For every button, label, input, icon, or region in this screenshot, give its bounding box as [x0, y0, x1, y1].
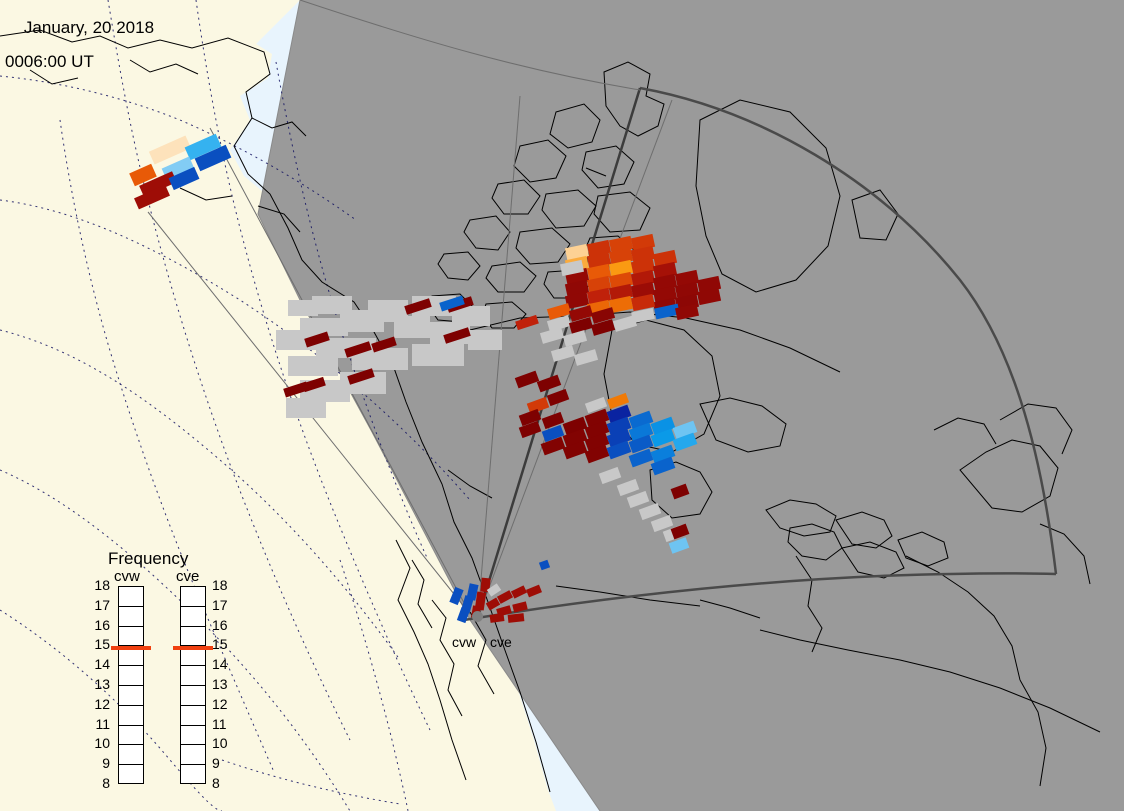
velocity-cell	[511, 585, 527, 598]
frequency-cell	[181, 686, 205, 706]
frequency-tick: 16	[212, 617, 238, 633]
frequency-cell	[119, 627, 143, 647]
frequency-tick: 11	[84, 716, 110, 732]
velocity-cell	[512, 601, 528, 612]
ground-scatter-cell	[617, 479, 640, 496]
frequency-tick: 11	[212, 716, 238, 732]
velocity-colorbar: Velocity (m/s) 5004003002001000-100-200-…	[980, 0, 1124, 340]
frequency-tick: 13	[84, 676, 110, 692]
ground-scatter-cell	[551, 345, 575, 362]
title-date: January, 20 2018	[24, 18, 154, 37]
frequency-tick: 9	[84, 755, 110, 771]
velocity-cell	[671, 484, 690, 500]
frequency-cell	[181, 666, 205, 686]
radar-site-label-cvw: cvw	[452, 634, 476, 650]
frequency-tick: 13	[212, 676, 238, 692]
frequency-cell	[119, 607, 143, 627]
ground-scatter-cell	[639, 503, 662, 520]
frequency-tick: 12	[84, 696, 110, 712]
frequency-cell	[119, 765, 143, 785]
frequency-bar-cve	[180, 586, 206, 784]
ground-scatter-cell	[394, 316, 430, 338]
ground-scatter-cell	[627, 491, 650, 508]
frequency-cell	[181, 706, 205, 726]
velocity-cell	[539, 560, 550, 571]
velocity-cell	[457, 607, 470, 623]
frequency-tick: 17	[84, 597, 110, 613]
radar-site-label-cve: cve	[490, 634, 512, 650]
velocity-cell	[537, 375, 561, 393]
frequency-cell	[181, 627, 205, 647]
frequency-cell	[181, 607, 205, 627]
frequency-column-header-cvw: cvw	[114, 568, 140, 585]
frequency-marker-cve	[173, 646, 213, 650]
frequency-cell	[119, 706, 143, 726]
velocity-cell	[449, 587, 463, 605]
ground-scatter-cell	[412, 344, 464, 366]
frequency-cell	[181, 726, 205, 746]
frequency-tick: 10	[84, 735, 110, 751]
frequency-tick: 14	[212, 656, 238, 672]
frequency-tick: 10	[212, 735, 238, 751]
timestamp-title: January, 20 2018 0006:00 UT	[5, 2, 154, 104]
title-time: 0006:00 UT	[5, 53, 154, 70]
frequency-tick: 15	[84, 636, 110, 652]
frequency-cell	[181, 765, 205, 785]
radar-site-marker	[472, 611, 483, 622]
frequency-tick: 14	[84, 656, 110, 672]
frequency-tick: 16	[84, 617, 110, 633]
velocity-cell	[508, 613, 525, 623]
frequency-cell	[119, 666, 143, 686]
frequency-marker-cvw	[111, 646, 151, 650]
frequency-cell	[119, 726, 143, 746]
ground-scatter-cell	[574, 349, 598, 366]
frequency-tick: 8	[84, 775, 110, 791]
frequency-cell	[181, 587, 205, 607]
ground-scatter-cell	[286, 398, 326, 418]
frequency-cell	[119, 745, 143, 765]
ground-scatter-cell	[613, 315, 637, 332]
frequency-cell	[181, 745, 205, 765]
frequency-tick: 18	[84, 577, 110, 593]
velocity-cell	[486, 598, 500, 611]
frequency-legend: cvw18171615141312111098cve18171615141312…	[88, 548, 248, 788]
velocity-cell	[526, 585, 542, 598]
frequency-tick: 9	[212, 755, 238, 771]
frequency-tick: 17	[212, 597, 238, 613]
ground-scatter-cell	[599, 467, 622, 484]
velocity-cell	[497, 590, 513, 604]
frequency-column-header-cve: cve	[176, 568, 199, 585]
fan-plot-canvas: January, 20 2018 0006:00 UT Velocity (m/…	[0, 0, 1124, 811]
velocity-cell	[547, 389, 570, 406]
frequency-cell	[119, 587, 143, 607]
ground-scatter-cell	[468, 330, 502, 350]
ground-scatter-cell	[288, 356, 338, 376]
frequency-cell	[119, 686, 143, 706]
frequency-tick: 12	[212, 696, 238, 712]
frequency-tick: 15	[212, 636, 238, 652]
frequency-bar-cvw	[118, 586, 144, 784]
velocity-cell	[515, 315, 539, 330]
frequency-tick: 18	[212, 577, 238, 593]
velocity-cell	[490, 613, 505, 623]
velocity-cell	[515, 371, 539, 389]
velocity-cell	[541, 437, 566, 456]
frequency-tick: 8	[212, 775, 238, 791]
